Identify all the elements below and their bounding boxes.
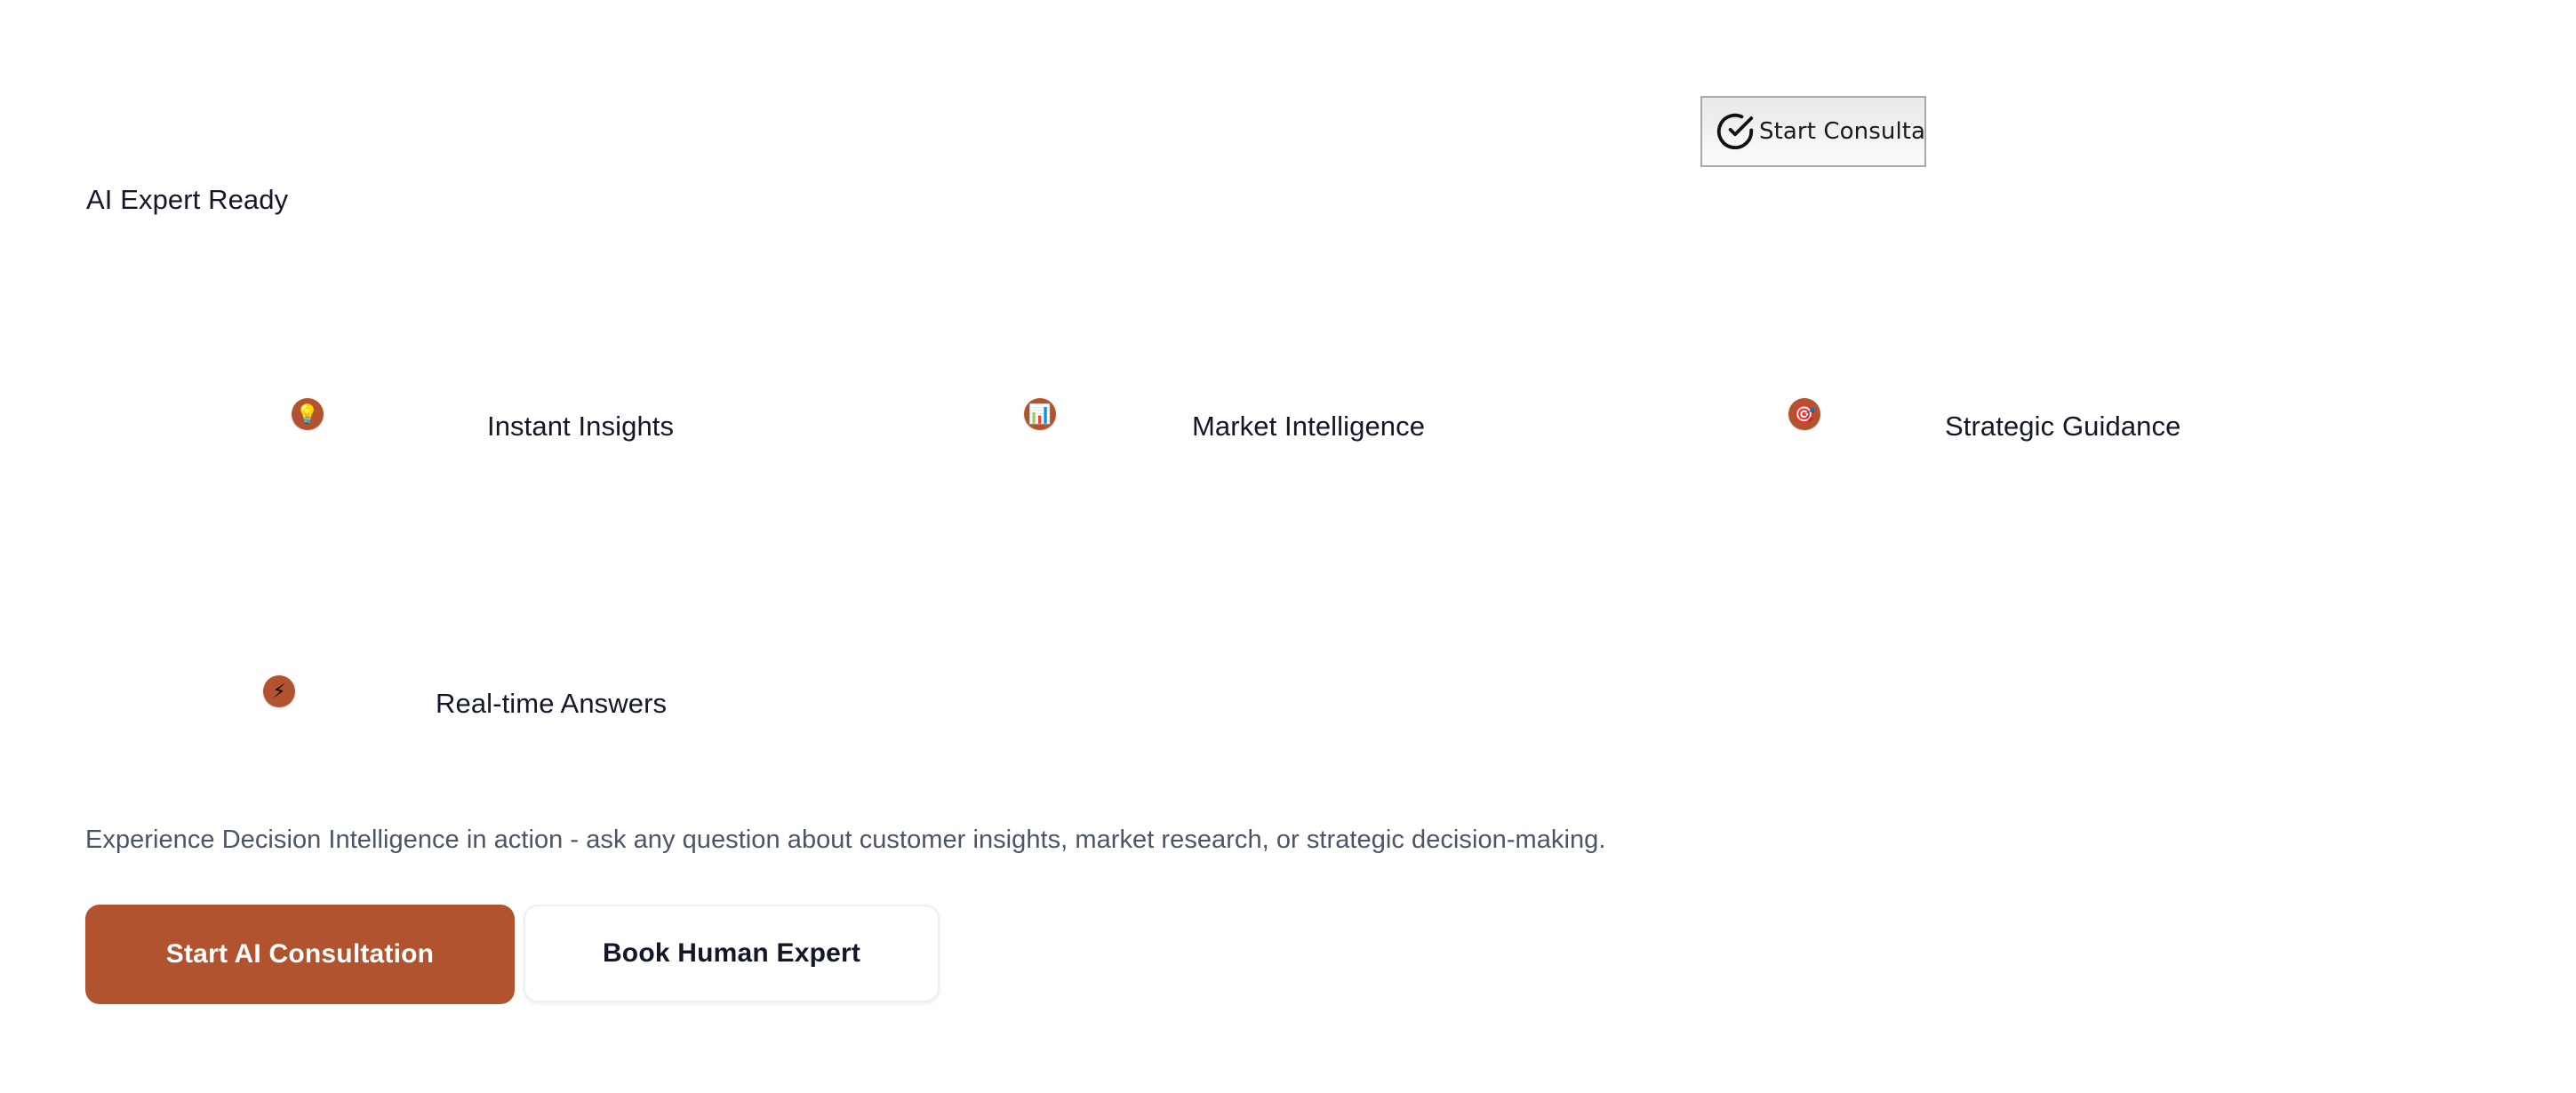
feature-label: Real-time Answers	[436, 686, 667, 722]
feature-label: Instant Insights	[487, 409, 674, 444]
feature-label: Market Intelligence	[1192, 409, 1425, 444]
feature-label: Strategic Guidance	[1945, 409, 2180, 444]
bar-chart-icon: 📊	[1024, 398, 1056, 430]
start-consultation-button[interactable]: Start Consultation	[1700, 96, 1926, 167]
cta-button-row: Start AI Consultation Book Human Expert	[85, 905, 940, 1004]
check-circle-icon	[1715, 111, 1756, 152]
lightning-bolt-icon: ⚡	[263, 675, 295, 707]
page-title: AI Expert Ready	[86, 182, 288, 218]
book-human-expert-button[interactable]: Book Human Expert	[524, 905, 940, 1002]
start-ai-consultation-button[interactable]: Start AI Consultation	[85, 905, 515, 1004]
target-icon: 🎯	[1788, 398, 1820, 430]
lightbulb-icon: 💡	[292, 398, 324, 430]
hero-description: Experience Decision Intelligence in acti…	[85, 822, 1605, 858]
start-consultation-label: Start Consultation	[1759, 120, 1926, 143]
